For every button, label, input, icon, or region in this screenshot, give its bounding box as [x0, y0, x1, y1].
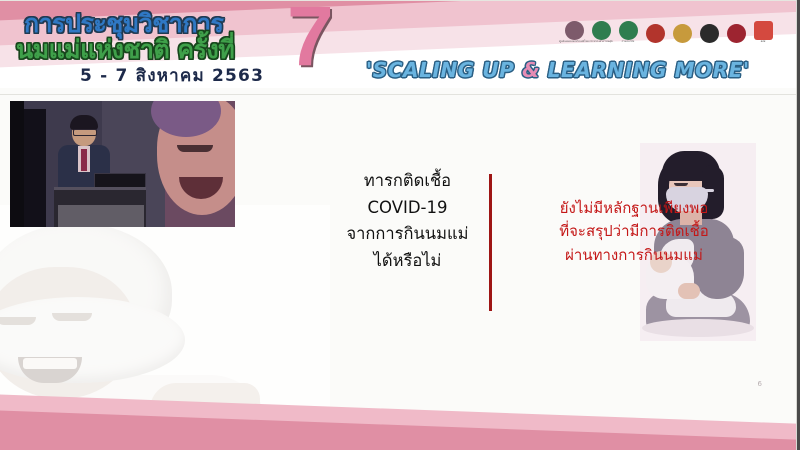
speaker-glasses-icon: [73, 129, 97, 136]
mother-mask-strap: [704, 189, 714, 192]
video-stage-half: [10, 101, 165, 227]
stage-dark-panel-2: [24, 109, 46, 227]
logo-department-of-health: กรมอนามัย: [617, 18, 639, 44]
answer-line-2: ที่จะสรุปว่ามีการติดเชื้อ: [500, 220, 768, 243]
answer-block: ยังไม่มีหลักฐานเพียงพอ ที่จะสรุปว่ามีการ…: [500, 197, 768, 267]
conference-date: 5 - 7 สิงหาคม 2563: [80, 62, 264, 89]
presentation-slide: การประชุมวิชาการ นมแม่แห่งชาติ ครั้งที่ …: [0, 0, 800, 450]
logo-mark-icon: [754, 21, 773, 40]
video-baby-half: [165, 101, 235, 227]
logo-mark-icon: [646, 24, 665, 43]
page-number: 6: [758, 380, 762, 388]
slide-top-hairline: [0, 0, 800, 1]
logo-ministry-of-public-health: กระทรวงสาธารณสุข: [590, 18, 612, 44]
logo-mark-icon: [619, 21, 638, 40]
mother-hand: [678, 283, 700, 299]
conference-tagline: 'SCALING UP & LEARNING MORE': [366, 58, 750, 82]
logo-caption: กระทรวงสาธารณสุข: [589, 41, 612, 44]
mother-eye: [674, 183, 688, 186]
speaker-video-inset[interactable]: [10, 101, 235, 227]
mother-ground-shadow: [642, 319, 754, 337]
logo-mark-icon: [565, 21, 584, 40]
stage-dark-panel: [10, 101, 24, 227]
conference-edition-number: 7: [287, 0, 334, 78]
photo-white-overlay: [0, 205, 330, 415]
logo-royal-emblem-red: [644, 18, 666, 44]
vertical-red-divider: [489, 174, 492, 311]
speaker-hair: [70, 115, 98, 130]
sponsor-logo-row: ศูนย์นมแม่แห่งประเทศไทย กระทรวงสาธารณสุข…: [563, 18, 774, 44]
question-line-2: COVID-19: [330, 195, 485, 222]
logo-caption: กรมอนามัย: [622, 41, 635, 44]
baby-eye: [177, 145, 213, 152]
tagline-suffix: LEARNING MORE': [540, 58, 750, 82]
tagline-prefix: 'SCALING UP: [366, 58, 522, 82]
logo-royal-emblem-gold: [671, 18, 693, 44]
logo-caption: ศูนย์นมแม่แห่งประเทศไทย: [559, 41, 589, 44]
logo-mark-icon: [592, 21, 611, 40]
logo-thaihealth-sss: สสส: [752, 18, 774, 44]
tagline-ampersand: &: [522, 58, 540, 82]
logo-mark-icon: [727, 24, 746, 43]
answer-line-1: ยังไม่มีหลักฐานเพียงพอ: [500, 197, 768, 220]
podium-glass-front: [58, 205, 144, 227]
answer-line-3: ผ่านทางการกินนมแม่: [500, 244, 768, 267]
logo-thai-breastfeeding-centre: ศูนย์นมแม่แห่งประเทศไทย: [563, 18, 585, 44]
question-block: ทารกติดเชื้อ COVID-19 จากการกินนมแม่ ได้…: [330, 168, 485, 275]
question-line-1: ทารกติดเชื้อ: [330, 168, 485, 195]
logo-mark-icon: [673, 24, 692, 43]
logo-university-black: [698, 18, 720, 44]
question-line-3: จากการกินนมแม่: [330, 221, 485, 248]
question-line-4: ได้หรือไม่: [330, 248, 485, 275]
header-rule: [0, 94, 800, 95]
logo-caption: สสส: [761, 41, 766, 44]
logo-mark-icon: [700, 24, 719, 43]
logo-faculty-red: [725, 18, 747, 44]
speaker-tie: [81, 149, 87, 171]
